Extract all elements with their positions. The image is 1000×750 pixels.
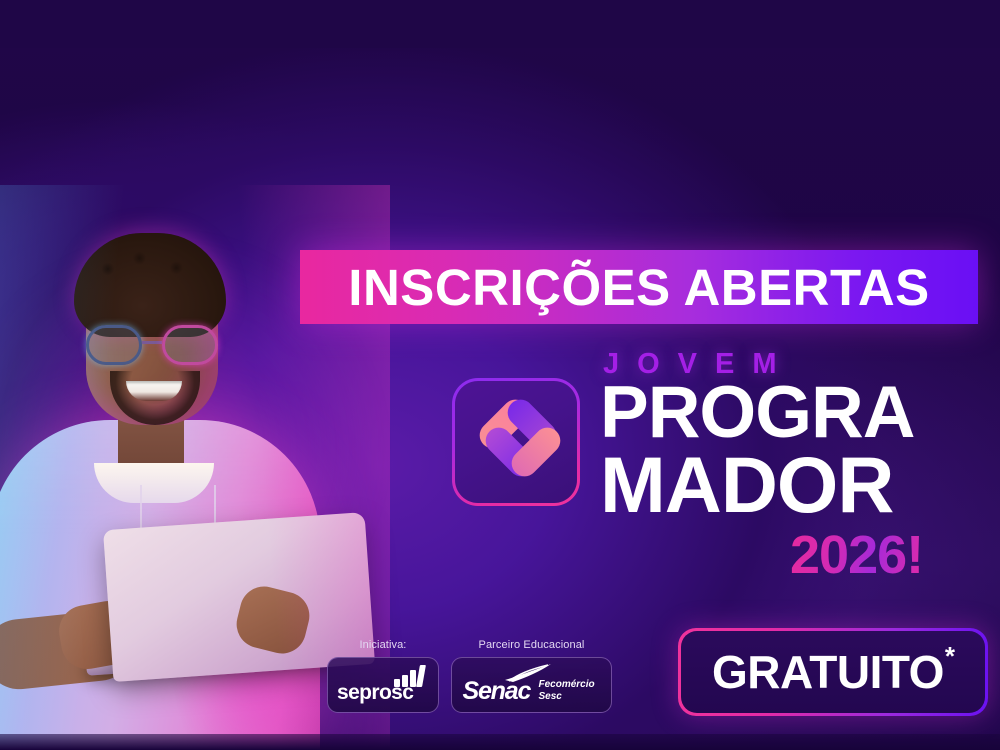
brand-year: 2026! bbox=[790, 528, 923, 582]
partner-initiative-label: Iniciativa: bbox=[327, 640, 439, 651]
code-brackets-icon-body bbox=[455, 381, 577, 503]
seprosc-logo[interactable]: seprosc bbox=[327, 657, 439, 713]
code-brackets-icon bbox=[452, 378, 580, 506]
senac-wordmark: Senac bbox=[463, 679, 531, 704]
senac-sublabel-line-1: Fecomércio bbox=[539, 679, 601, 691]
person-glasses bbox=[86, 325, 222, 365]
brand-title-line-1: PROGRA bbox=[600, 376, 914, 449]
gratuito-badge[interactable]: GRATUITO * bbox=[678, 628, 988, 716]
registrations-open-headline: INSCRIÇÕES ABERTAS bbox=[348, 262, 929, 313]
glasses-right-lens bbox=[162, 325, 218, 365]
seprosc-bar-4 bbox=[416, 665, 426, 687]
background-top-band bbox=[0, 0, 1000, 48]
partner-initiative: Iniciativa: seprosc bbox=[327, 640, 439, 713]
gratuito-asterisk: * bbox=[945, 641, 955, 672]
gratuito-label: GRATUITO bbox=[712, 649, 944, 695]
brand-title-line-2: MADOR bbox=[600, 445, 893, 524]
jovem-programador-lockup: JOVEM PROGRA MADOR 2026! bbox=[445, 348, 985, 593]
partner-educational-label: Parceiro Educacional bbox=[451, 640, 612, 651]
background-bottom-band bbox=[0, 734, 1000, 750]
senac-sublabel: Fecomércio Sesc bbox=[539, 679, 601, 703]
senac-logo-art: Senac Fecomércio Sesc bbox=[461, 663, 603, 707]
senac-logo[interactable]: Senac Fecomércio Sesc bbox=[451, 657, 612, 713]
glasses-left-lens bbox=[86, 325, 142, 365]
seprosc-wordmark: seprosc bbox=[337, 682, 413, 703]
glasses-bridge bbox=[142, 341, 162, 344]
partner-educational: Parceiro Educacional Senac Fecomércio Se… bbox=[451, 640, 612, 713]
partner-logos: Iniciativa: seprosc Parceiro Educacional bbox=[327, 640, 612, 722]
promo-banner-canvas: INSCRIÇÕES ABERTAS JOVEM PROGRA MADOR 20… bbox=[0, 0, 1000, 750]
senac-sublabel-line-2: Sesc bbox=[539, 691, 601, 703]
registrations-open-banner: INSCRIÇÕES ABERTAS bbox=[300, 250, 978, 324]
person-hair bbox=[74, 233, 226, 337]
seprosc-logo-art: seprosc bbox=[337, 665, 429, 705]
gratuito-badge-inner: GRATUITO * bbox=[681, 631, 985, 713]
